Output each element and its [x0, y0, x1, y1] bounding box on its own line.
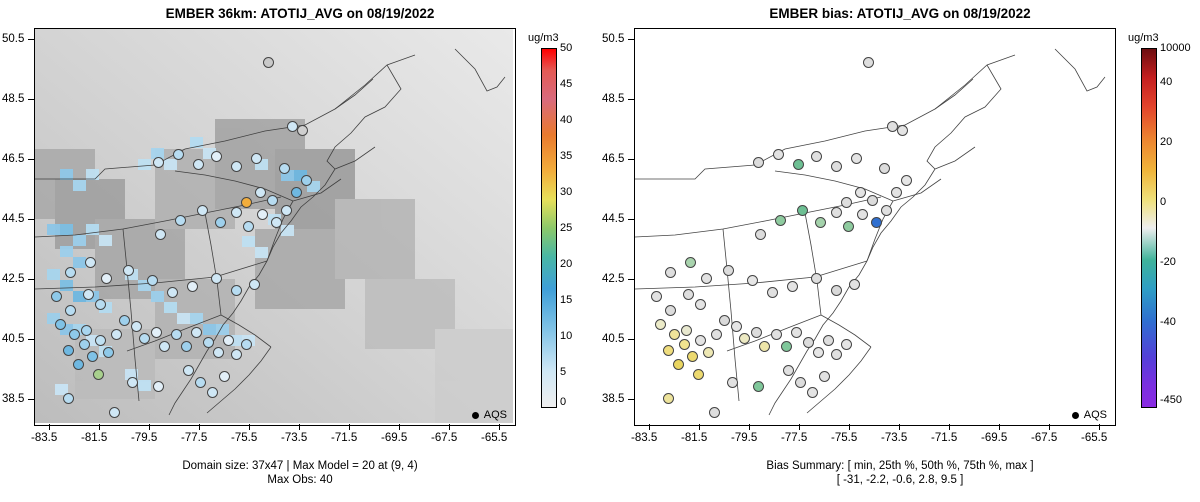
aqs-point	[257, 209, 268, 220]
aqs-point	[167, 287, 178, 298]
colorbar-tick: 15	[560, 294, 572, 306]
aqs-point	[211, 273, 222, 284]
aqs-bias-point	[831, 207, 842, 218]
xtick-label: -81.5	[681, 432, 707, 444]
xtick-label: -75.5	[231, 432, 257, 444]
aqs-bias-point	[897, 125, 908, 136]
caption-line-1-model: Domain size: 37x47 | Max Model = 20 at (…	[0, 459, 600, 473]
aqs-bias-point	[663, 393, 674, 404]
colorbar-bias	[1141, 48, 1157, 408]
aqs-bias-point	[701, 273, 712, 284]
aqs-bias-point	[727, 377, 738, 388]
colorbar-tick: 40	[560, 114, 572, 126]
aqs-bias-point	[651, 291, 662, 302]
legend-aqs-model: AQS	[472, 409, 507, 421]
aqs-bias-point	[669, 329, 680, 340]
panel-bias: EMBER bias: ATOTIJ_AVG on 08/19/2022	[600, 0, 1200, 502]
aqs-bias-point	[665, 305, 676, 316]
aqs-bias-point	[787, 281, 798, 292]
aqs-point	[241, 339, 252, 350]
ytick-label: 50.5	[602, 33, 624, 45]
aqs-point	[249, 279, 260, 290]
aqs-point	[267, 195, 278, 206]
aqs-point	[123, 265, 134, 276]
ytick-label: 42.5	[2, 273, 24, 285]
aqs-point	[231, 349, 242, 360]
aqs-bias-point	[831, 161, 842, 172]
aqs-legend-dot-icon	[1072, 412, 1079, 419]
aqs-bias-point	[681, 325, 692, 336]
aqs-bias-point	[695, 299, 706, 310]
aqs-point	[297, 125, 308, 136]
colorbar-model	[541, 48, 557, 408]
aqs-point	[187, 281, 198, 292]
xtick-label: -77.5	[781, 432, 807, 444]
aqs-bias-point	[693, 369, 704, 380]
aqs-legend-dot-icon	[472, 412, 479, 419]
aqs-point	[155, 229, 166, 240]
aqs-bias-point	[795, 377, 806, 388]
aqs-point	[73, 359, 84, 370]
panel-model: EMBER 36km: ATOTIJ_AVG on 08/19/2022	[0, 0, 600, 502]
aqs-point	[181, 341, 192, 352]
colorbar-tick: -450	[1160, 394, 1182, 406]
aqs-point	[271, 217, 282, 228]
aqs-bias-point	[831, 285, 842, 296]
ytick-label: 38.5	[2, 393, 24, 405]
colorbar-tick: 35	[560, 150, 572, 162]
aqs-point	[231, 207, 242, 218]
aqs-point	[263, 57, 274, 68]
aqs-bias-point	[747, 275, 758, 286]
aqs-point	[211, 151, 222, 162]
aqs-bias-point	[773, 149, 784, 160]
xtick-label: -73.5	[281, 432, 307, 444]
aqs-bias-point	[843, 221, 854, 232]
aqs-bias-point	[863, 57, 874, 68]
aqs-bias-point	[797, 205, 808, 216]
figure-root: EMBER 36km: ATOTIJ_AVG on 08/19/2022	[0, 0, 1200, 502]
aqs-point	[65, 305, 76, 316]
aqs-point	[193, 159, 204, 170]
aqs-bias-point	[841, 197, 852, 208]
colorbar-tick: 5	[560, 366, 566, 378]
aqs-point	[195, 377, 206, 388]
colorbar-tick: -40	[1160, 316, 1176, 328]
colorbar-tick: 25	[560, 222, 572, 234]
xtick-label: -71.5	[331, 432, 357, 444]
aqs-point	[85, 257, 96, 268]
aqs-bias-point	[849, 279, 860, 290]
xtick-label: -69.5	[981, 432, 1007, 444]
aqs-bias-point	[807, 387, 818, 398]
aqs-point	[251, 153, 262, 164]
aqs-point	[63, 393, 74, 404]
aqs-bias-point	[815, 217, 826, 228]
aqs-bias-point	[783, 365, 794, 376]
aqs-bias-point	[823, 335, 834, 346]
aqs-point	[83, 289, 94, 300]
xtick-label: -73.5	[881, 432, 907, 444]
aqs-bias-point	[831, 349, 842, 360]
xtick-label: -65.5	[1081, 432, 1107, 444]
xtick-label: -81.5	[81, 432, 107, 444]
colorbar-tick: 20	[560, 258, 572, 270]
aqs-bias-point	[879, 163, 890, 174]
aqs-point	[173, 149, 184, 160]
xtick-label: -77.5	[181, 432, 207, 444]
aqs-point	[159, 341, 170, 352]
aqs-bias-point	[775, 215, 786, 226]
aqs-bias-point	[755, 229, 766, 240]
aqs-bias-point	[739, 333, 750, 344]
aqs-point	[95, 335, 106, 346]
xtick-label: -79.5	[131, 432, 157, 444]
aqs-bias-point	[819, 371, 830, 382]
aqs-point	[139, 333, 150, 344]
colorbar-tick: 45	[560, 78, 572, 90]
xtick-label: -83.5	[631, 432, 657, 444]
panel-title-bias: EMBER bias: ATOTIJ_AVG on 08/19/2022	[600, 6, 1200, 21]
xtick-label: -65.5	[481, 432, 507, 444]
aqs-bias-point	[851, 153, 862, 164]
aqs-point	[101, 273, 112, 284]
aqs-point	[153, 157, 164, 168]
aqs-point	[87, 351, 98, 362]
ytick-label: 38.5	[602, 393, 624, 405]
aqs-point	[147, 275, 158, 286]
aqs-bias-point	[841, 339, 852, 350]
aqs-point	[93, 369, 104, 380]
aqs-bias-point	[655, 319, 666, 330]
aqs-point	[279, 163, 290, 174]
ytick-label: 48.5	[602, 93, 624, 105]
aqs-bias-point	[723, 265, 734, 276]
aqs-point	[291, 187, 302, 198]
ytick-label: 50.5	[2, 33, 24, 45]
aqs-bias-point	[665, 267, 676, 278]
xtick-label: -69.5	[381, 432, 407, 444]
aqs-point	[213, 347, 224, 358]
aqs-point	[151, 327, 162, 338]
colorbar-tick: 0	[1160, 196, 1166, 208]
xtick-label: -79.5	[731, 432, 757, 444]
ytick-label: 40.5	[602, 333, 624, 345]
xtick-label: -75.5	[831, 432, 857, 444]
aqs-point	[69, 329, 80, 340]
aqs-bias-point	[811, 151, 822, 162]
aqs-point	[63, 345, 74, 356]
colorbar-tick: 10	[560, 330, 572, 342]
colorbar-tick: 0	[560, 396, 566, 408]
legend-aqs-bias: AQS	[1072, 409, 1107, 421]
colorbar-tick: 30	[560, 186, 572, 198]
aqs-bias-point	[679, 339, 690, 350]
aqs-point	[79, 339, 90, 350]
aqs-point	[301, 175, 312, 186]
aqs-point	[51, 291, 62, 302]
aqs-point	[109, 407, 120, 418]
colorbar-tick: 50	[560, 42, 572, 54]
panel-title-model: EMBER 36km: ATOTIJ_AVG on 08/19/2022	[0, 6, 600, 21]
aqs-point	[207, 387, 218, 398]
caption-line-1-bias: Bias Summary: [ min, 25th %, 50th %, 75t…	[600, 459, 1200, 473]
ytick-label: 46.5	[2, 153, 24, 165]
aqs-point	[203, 337, 214, 348]
aqs-bias-point	[781, 341, 792, 352]
aqs-bias-point-min	[871, 217, 882, 228]
aqs-point-max	[241, 197, 252, 208]
aqs-bias-point	[719, 315, 730, 326]
aqs-bias-point	[881, 205, 892, 216]
aqs-point	[191, 327, 202, 338]
map-plot-model: AQS	[34, 28, 516, 426]
aqs-bias-point	[791, 327, 802, 338]
aqs-bias-point	[857, 209, 868, 220]
aqs-bias-point	[753, 157, 764, 168]
xtick-label: -67.5	[431, 432, 457, 444]
aqs-point	[231, 161, 242, 172]
aqs-point	[119, 315, 130, 326]
aqs-point	[81, 325, 92, 336]
aqs-bias-point	[811, 273, 822, 284]
aqs-bias-point	[813, 347, 824, 358]
aqs-bias-point	[673, 359, 684, 370]
aqs-bias-point	[771, 329, 782, 340]
xtick-label: -67.5	[1031, 432, 1057, 444]
aqs-bias-point	[767, 287, 778, 298]
aqs-point	[197, 205, 208, 216]
aqs-bias-point	[891, 187, 902, 198]
map-plot-bias: AQS	[634, 28, 1116, 426]
ytick-label: 48.5	[2, 93, 24, 105]
aqs-point	[153, 381, 164, 392]
xtick-label: -71.5	[931, 432, 957, 444]
colorbar-tick: 10000	[1160, 42, 1191, 54]
ytick-label: 40.5	[2, 333, 24, 345]
aqs-bias-point	[711, 329, 722, 340]
aqs-bias-point	[793, 159, 804, 170]
aqs-point	[103, 347, 114, 358]
aqs-point	[281, 205, 292, 216]
aqs-point	[255, 187, 266, 198]
aqs-bias-point	[855, 187, 866, 198]
aqs-point	[127, 377, 138, 388]
caption-line-2-model: Max Obs: 40	[0, 473, 600, 487]
aqs-bias-point	[709, 407, 720, 418]
aqs-bias-point	[687, 351, 698, 362]
aqs-point	[171, 329, 182, 340]
aqs-bias-point	[759, 341, 770, 352]
aqs-point	[231, 285, 242, 296]
ytick-label: 46.5	[602, 153, 624, 165]
aqs-point	[215, 217, 226, 228]
ytick-label: 44.5	[602, 213, 624, 225]
aqs-bias-point	[901, 175, 912, 186]
colorbar-label-model: ug/m3	[528, 32, 559, 44]
aqs-bias-point	[751, 327, 762, 338]
aqs-point	[95, 299, 106, 310]
aqs-bias-point	[731, 321, 742, 332]
aqs-point	[175, 215, 186, 226]
aqs-bias-point	[753, 381, 764, 392]
aqs-point	[243, 221, 254, 232]
aqs-bias-point	[663, 345, 674, 356]
aqs-point	[219, 371, 230, 382]
aqs-bias-point	[683, 289, 694, 300]
aqs-bias-point	[867, 195, 878, 206]
aqs-point	[183, 365, 194, 376]
aqs-bias-point	[695, 335, 706, 346]
ytick-label: 44.5	[2, 213, 24, 225]
aqs-point	[111, 329, 122, 340]
aqs-point	[55, 319, 66, 330]
colorbar-tick: -20	[1160, 256, 1176, 268]
ytick-label: 42.5	[602, 273, 624, 285]
colorbar-tick: 40	[1160, 76, 1172, 88]
aqs-point	[65, 267, 76, 278]
colorbar-tick: 20	[1160, 136, 1172, 148]
caption-line-2-bias: [ -31, -2.2, -0.6, 2.8, 9.5 ]	[600, 473, 1200, 487]
aqs-bias-point	[703, 347, 714, 358]
aqs-bias-point	[685, 257, 696, 268]
aqs-bias-point	[803, 337, 814, 348]
aqs-point	[223, 335, 234, 346]
colorbar-label-bias: ug/m3	[1128, 32, 1159, 44]
xtick-label: -83.5	[31, 432, 57, 444]
aqs-point	[131, 321, 142, 332]
